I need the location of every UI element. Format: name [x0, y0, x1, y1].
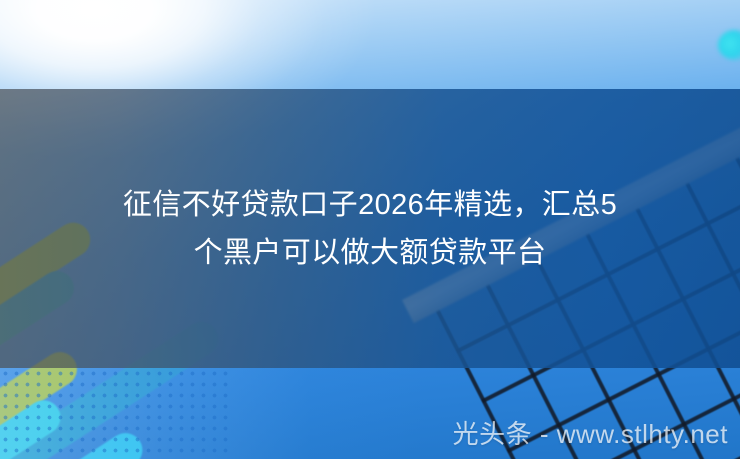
- article-cover-image: 征信不好贷款口子2026年精选，汇总5 个黑户可以做大额贷款平台 光头条 - w…: [0, 0, 740, 459]
- headline-line-1: 征信不好贷款口子2026年精选，汇总5: [123, 181, 617, 229]
- headline-line-2: 个黑户可以做大额贷款平台: [194, 229, 547, 277]
- halftone-dot-pattern: [0, 368, 230, 459]
- headline-text-block: 征信不好贷款口子2026年精选，汇总5 个黑户可以做大额贷款平台: [0, 89, 740, 368]
- site-watermark: 光头条 - www.stlhty.net: [453, 419, 728, 449]
